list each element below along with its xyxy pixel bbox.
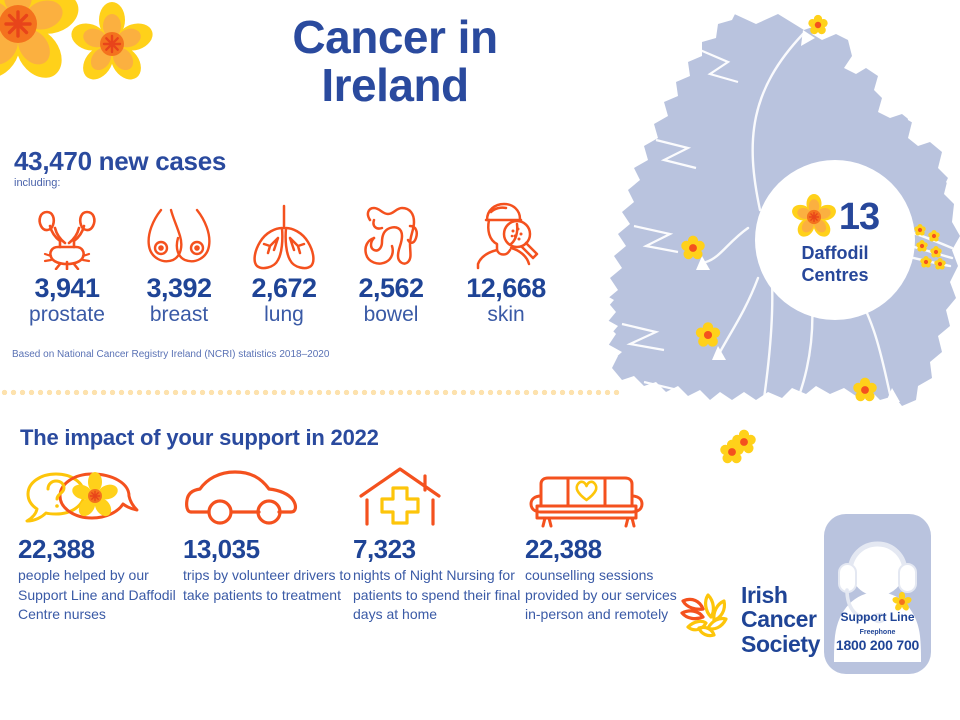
impact-stat-text: counselling sessions provided by our ser… — [525, 566, 685, 624]
impact-stat-night-nursing: 7,323 nights of Night Nursing for patien… — [353, 462, 525, 624]
page-title: Cancer in Ireland — [210, 14, 580, 110]
cancer-stat-label: breast — [126, 303, 232, 326]
car-icon — [183, 462, 353, 528]
impact-stat-value: 13,035 — [183, 536, 353, 563]
page-title-line2: Ireland — [210, 62, 580, 110]
support-line-number: 1800 200 700 — [824, 637, 931, 653]
source-note: Based on National Cancer Registry Irelan… — [12, 349, 329, 360]
sofa-heart-icon — [525, 462, 685, 528]
bowel-icon — [336, 196, 446, 270]
cancer-stat-value: 3,941 — [8, 274, 126, 302]
lung-icon — [232, 196, 336, 270]
cancer-stat-value: 3,392 — [126, 274, 232, 302]
impact-stat-counselling: 22,388 counselling sessions provided by … — [525, 462, 685, 624]
daffodil-centres-callout: 13 Daffodil Centres — [755, 160, 915, 320]
daffodil-centres-label-line1: Daffodil — [802, 242, 869, 265]
impact-stat-text: people helped by our Support Line and Da… — [18, 566, 183, 624]
cancer-stat-bowel: 2,562 bowel — [336, 196, 446, 326]
cancer-stat-prostate: 3,941 prostate — [8, 196, 126, 326]
cancer-stat-breast: 3,392 breast — [126, 196, 232, 326]
cancer-type-row: 3,941 prostate 3,392 breast — [8, 196, 588, 326]
breast-icon — [126, 196, 232, 270]
including-label: including: — [14, 177, 60, 189]
impact-stat-value: 7,323 — [353, 536, 525, 563]
section-divider — [0, 388, 620, 395]
cancer-stat-lung: 2,672 lung — [232, 196, 336, 326]
daffodil-icon — [68, 2, 156, 85]
cancer-stat-value: 12,668 — [446, 274, 566, 302]
impact-stat-driver-trips: 13,035 trips by volunteer drivers to tak… — [183, 462, 353, 605]
cancer-stat-label: bowel — [336, 303, 446, 326]
impact-stat-text: nights of Night Nursing for patients to … — [353, 566, 525, 624]
cancer-stat-skin: 12,668 skin — [446, 196, 566, 326]
impact-stat-text: trips by volunteer drivers to take patie… — [183, 566, 353, 605]
callout-top-row: 13 — [791, 194, 879, 240]
daffodil-centres-count: 13 — [839, 198, 879, 236]
logo-line-cancer: Cancer — [741, 607, 820, 631]
freephone-label: Freephone — [824, 629, 931, 636]
cancer-stat-value: 2,562 — [336, 274, 446, 302]
impact-row: 22,388 people helped by our Support Line… — [18, 462, 678, 624]
decorative-daffodils — [0, 0, 160, 98]
daffodil-icon — [791, 194, 837, 240]
impact-stat-value: 22,388 — [18, 536, 183, 563]
cancer-stat-value: 2,672 — [232, 274, 336, 302]
daffodil-centres-label-line2: Centres — [801, 264, 868, 287]
daffodil-icon — [0, 0, 84, 87]
logo-line-irish: Irish — [741, 583, 820, 607]
impact-stat-support-line: 22,388 people helped by our Support Line… — [18, 462, 183, 624]
support-line-title: Support Line — [824, 610, 931, 624]
cancer-stat-label: prostate — [8, 303, 126, 326]
irish-cancer-society-logo: Irish Cancer Society — [676, 583, 820, 656]
page-title-line1: Cancer in — [210, 14, 580, 62]
daffodil-logo-icon — [676, 591, 734, 649]
logo-wordmark: Irish Cancer Society — [741, 583, 820, 656]
cancer-stat-label: lung — [232, 303, 336, 326]
new-cases-headline: 43,470 new cases — [14, 146, 226, 177]
impact-stat-value: 22,388 — [525, 536, 685, 563]
prostate-icon — [8, 196, 126, 270]
support-line-badge[interactable]: Support Line Freephone 1800 200 700 — [824, 514, 931, 674]
infographic-canvas: 13 Daffodil Centres — [0, 0, 960, 720]
cancer-stat-label: skin — [446, 303, 566, 326]
speech-bubbles-icon — [18, 462, 183, 528]
impact-headline: The impact of your support in 2022 — [20, 425, 379, 451]
logo-line-society: Society — [741, 632, 820, 656]
skin-icon — [446, 196, 566, 270]
house-cross-icon — [353, 462, 525, 528]
